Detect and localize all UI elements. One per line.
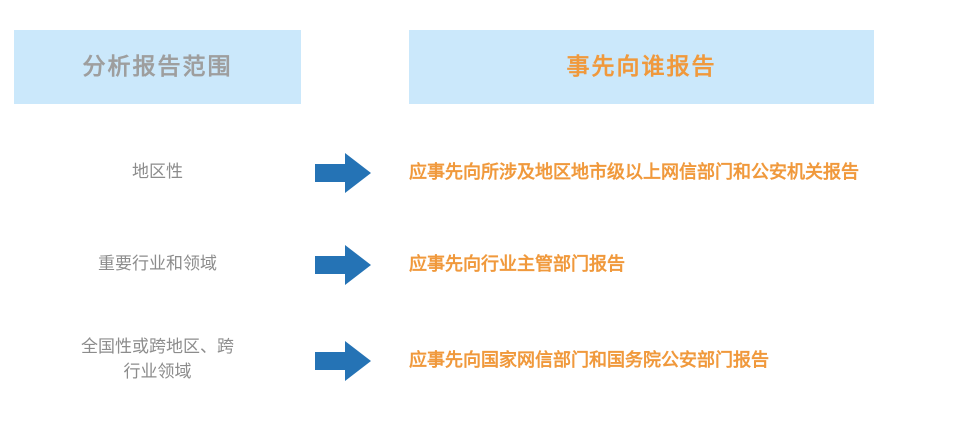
diagram-row: 重要行业和领域 应事先向行业主管部门报告	[0, 232, 960, 296]
report-target-label: 应事先向所涉及地区地市级以上网信部门和公安机关报告	[409, 159, 859, 185]
header-title-report-target: 事先向谁报告	[567, 53, 717, 81]
header-banner-scope: 分析报告范围	[14, 30, 301, 104]
report-target-label: 应事先向行业主管部门报告	[409, 251, 625, 277]
scope-label-text: 地区性	[14, 160, 301, 185]
scope-label: 地区性	[14, 140, 301, 204]
report-target-text: 应事先向行业主管部门报告	[409, 232, 954, 296]
scope-label-text: 全国性或跨地区、跨 行业领域	[14, 335, 301, 384]
diagram-canvas: 分析报告范围 事先向谁报告 地区性 应事先向所涉及地区地市级以上网信部门和公安机…	[0, 0, 960, 426]
report-target-text: 应事先向所涉及地区地市级以上网信部门和公安机关报告	[409, 140, 954, 204]
right-arrow-icon	[315, 153, 371, 193]
scope-label: 重要行业和领域	[14, 232, 301, 296]
right-arrow-icon	[315, 245, 371, 285]
diagram-row: 全国性或跨地区、跨 行业领域 应事先向国家网信部门和国务院公安部门报告	[0, 328, 960, 392]
scope-label-text: 重要行业和领域	[14, 252, 301, 277]
scope-label: 全国性或跨地区、跨 行业领域	[14, 328, 301, 392]
header-banner-report-target: 事先向谁报告	[409, 30, 874, 104]
report-target-label: 应事先向国家网信部门和国务院公安部门报告	[409, 347, 769, 373]
report-target-text: 应事先向国家网信部门和国务院公安部门报告	[409, 328, 954, 392]
header-title-scope: 分析报告范围	[83, 53, 233, 81]
right-arrow-icon	[315, 341, 371, 381]
diagram-row: 地区性 应事先向所涉及地区地市级以上网信部门和公安机关报告	[0, 140, 960, 204]
